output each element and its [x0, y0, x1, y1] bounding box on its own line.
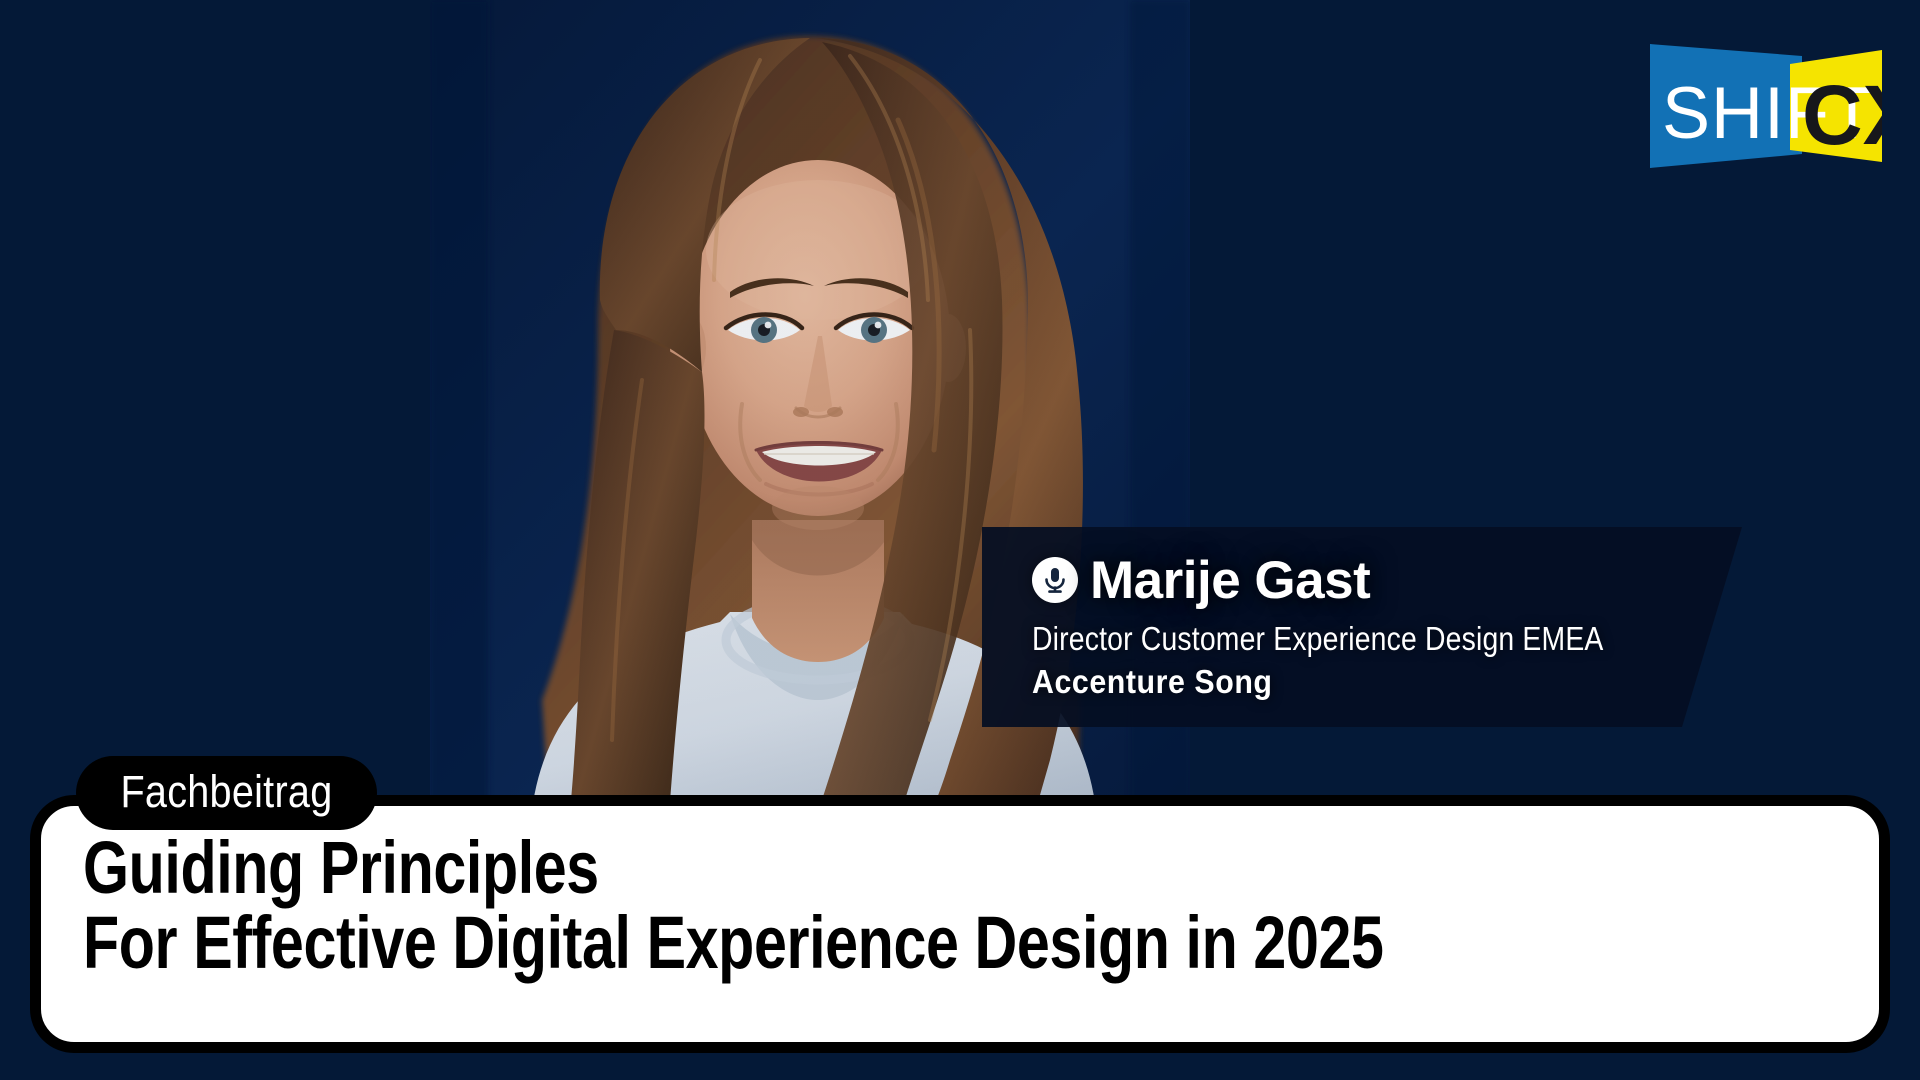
- speaker-role: Director Customer Experience Design EMEA: [1032, 621, 1643, 658]
- article-title: Guiding Principles For Effective Digital…: [83, 830, 1920, 981]
- speaker-name: Marije Gast: [1090, 554, 1370, 607]
- category-badge[interactable]: Fachbeitrag: [76, 756, 377, 830]
- shift-cx-logo[interactable]: SHIFT CX: [1650, 32, 1882, 174]
- slide-canvas: SHIFT CX Marije Gast Director: [0, 0, 1920, 1080]
- article-title-card[interactable]: Guiding Principles For Effective Digital…: [30, 795, 1890, 1053]
- logo-cx-wordmark: CX: [1802, 68, 1882, 162]
- microphone-icon: [1032, 557, 1078, 603]
- speaker-name-row: Marije Gast: [1032, 549, 1742, 611]
- speaker-nameplate: Marije Gast Director Customer Experience…: [982, 527, 1742, 727]
- speaker-company: Accenture Song: [1032, 664, 1685, 701]
- category-badge-label: Fachbeitrag: [120, 769, 332, 818]
